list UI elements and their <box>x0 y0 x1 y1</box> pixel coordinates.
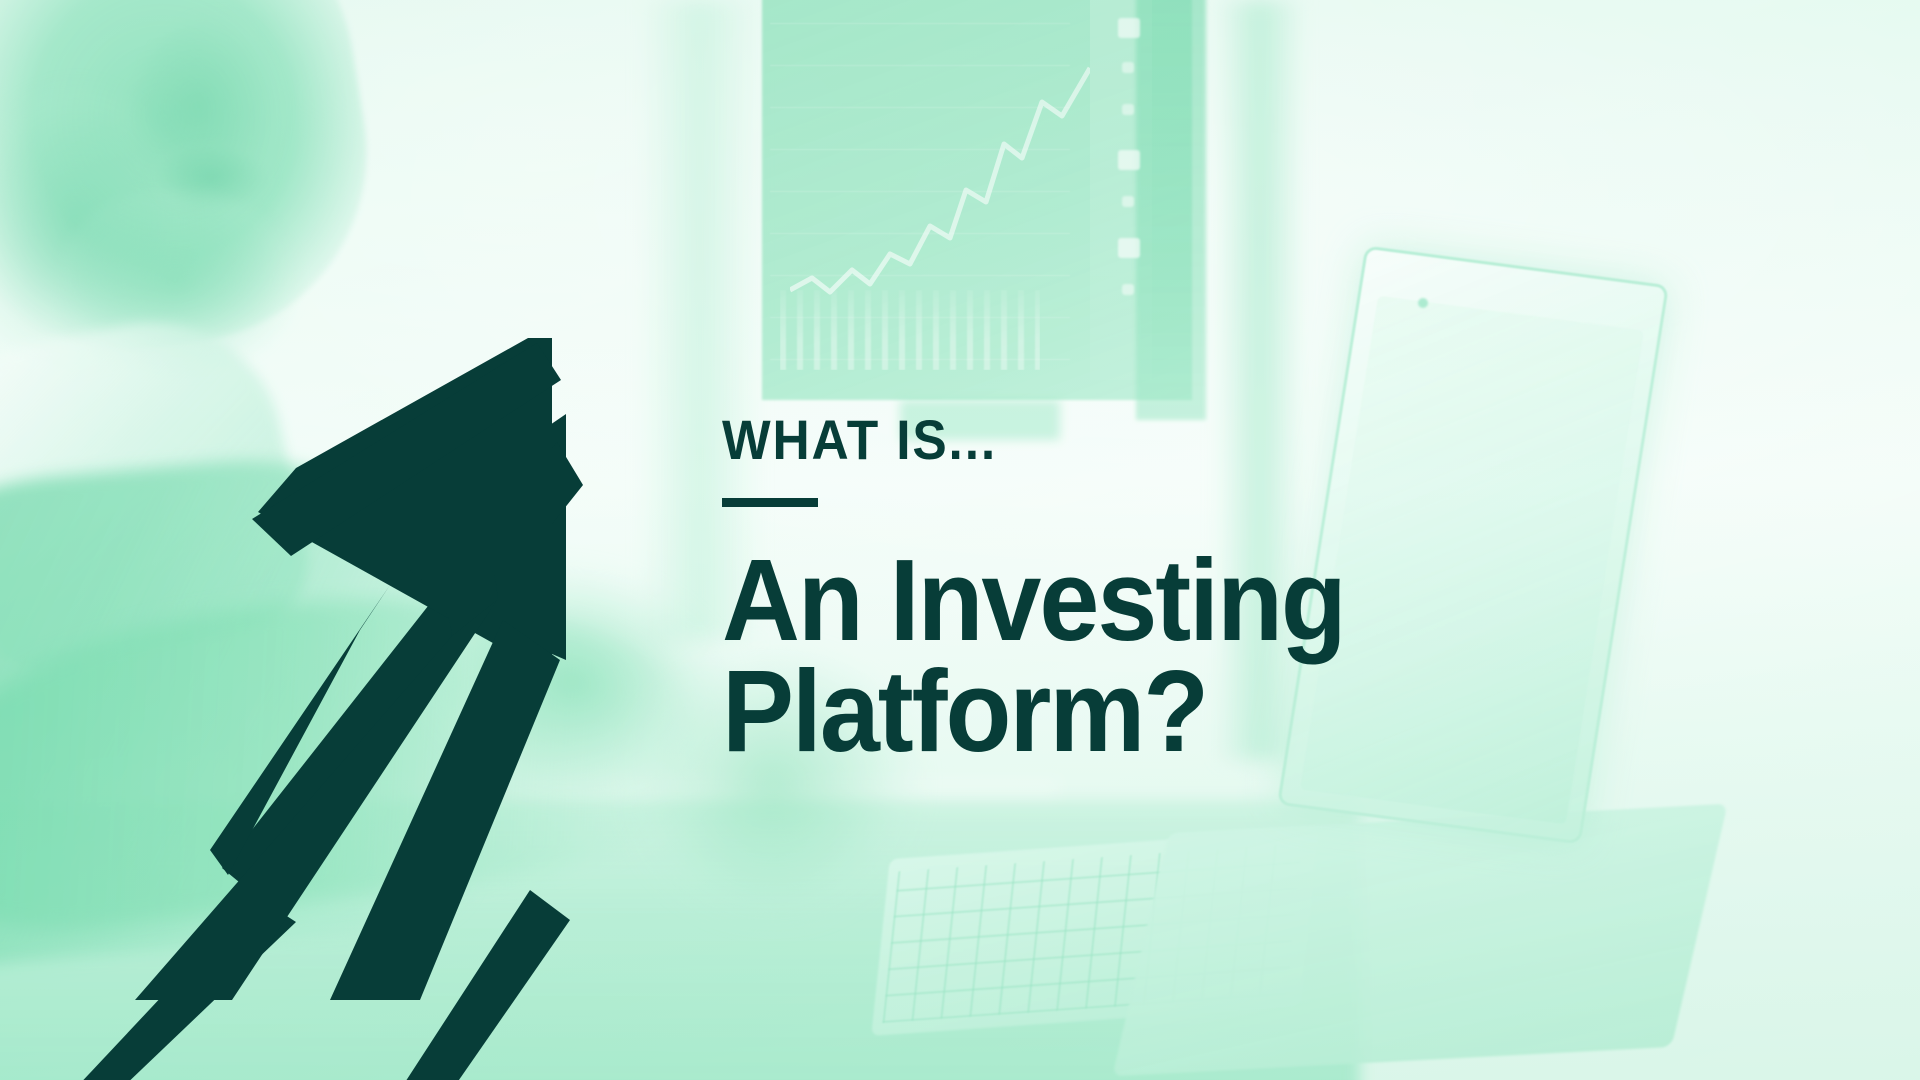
monitor-price-line <box>790 40 1090 340</box>
hero-banner: WHAT IS... An Investing Platform? <box>0 0 1920 1080</box>
headline-line-2: Platform? <box>722 656 1559 767</box>
laptop-camera <box>1418 298 1428 308</box>
monitor-indicator-dot <box>1122 196 1134 207</box>
hero-copy: WHAT IS... An Investing Platform? <box>722 412 1622 768</box>
eyebrow-text: WHAT IS... <box>722 412 1550 468</box>
laptop-base <box>1112 804 1727 1077</box>
monitor-secondary <box>1136 0 1206 420</box>
monitor-indicator-dot <box>1122 104 1134 115</box>
monitor-indicator-dot <box>1118 150 1140 170</box>
divider-rule <box>722 498 818 507</box>
page-title: An Investing Platform? <box>722 545 1559 768</box>
monitor-indicator-dot <box>1122 62 1134 73</box>
monitor-indicator-dot <box>1118 18 1140 38</box>
monitor-indicator-dot <box>1122 284 1134 295</box>
monitor-indicator-dot <box>1118 238 1140 258</box>
